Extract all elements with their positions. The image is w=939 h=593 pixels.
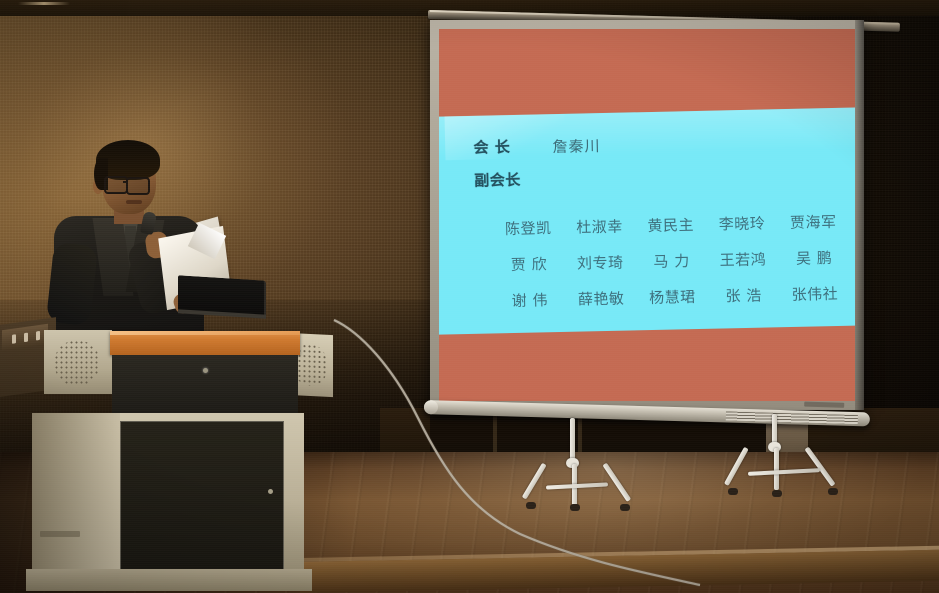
- vice-chairman-row-3: 谢 伟 薛艳敏 杨慧珺 张 浩 张伟社: [497, 283, 848, 312]
- tripod-foot: [570, 504, 580, 511]
- tripod-leg: [774, 448, 779, 490]
- name-cell: 张 浩: [710, 284, 776, 306]
- control-switch[interactable]: [12, 334, 16, 344]
- podium-brand-mark: [40, 531, 80, 537]
- name-cell: 王若鸿: [710, 248, 776, 270]
- name-cell: 马 力: [638, 250, 704, 272]
- podium-screw-icon: [203, 368, 208, 373]
- screen-tripod-right: [728, 414, 858, 494]
- name-cell: 张伟社: [782, 283, 848, 305]
- tripod-leg: [804, 447, 835, 487]
- name-cell: 陈登凯: [495, 217, 561, 239]
- vice-chairman-row-1: 陈登凯 杜淑幸 黄民主 李晓玲 贾海军: [495, 211, 846, 240]
- screen-tripod-left: [528, 418, 648, 498]
- tripod-leg: [724, 447, 749, 486]
- name-cell: 刘专琦: [567, 251, 633, 273]
- tripod-center-post: [570, 418, 575, 462]
- vice-chairman-label: 副会长: [474, 169, 521, 191]
- podium-screw-icon: [268, 489, 273, 494]
- name-cell: 贾 欣: [496, 253, 562, 275]
- control-switch[interactable]: [36, 331, 40, 341]
- slide-background: 会 长 詹秦川 副会长 陈登凯 杜淑幸 黄民主 李晓玲 贾海军 贾 欣: [439, 29, 855, 401]
- tripod-foot: [526, 502, 536, 509]
- podium-front-panel: [120, 421, 284, 571]
- tripod-brace: [546, 482, 608, 489]
- projection-screen-surface: 会 长 詹秦川 副会长 陈登凯 杜淑幸 黄民主 李晓玲 贾海军 贾 欣: [439, 29, 855, 401]
- control-switch[interactable]: [24, 333, 28, 343]
- podium-left-shelf: [44, 330, 112, 394]
- name-cell: 吴 鹏: [781, 247, 847, 269]
- name-cell: 杜淑幸: [566, 215, 632, 237]
- slide-text-layer: 会 长 詹秦川 副会长 陈登凯 杜淑幸 黄民主 李晓玲 贾海军 贾 欣: [439, 29, 855, 401]
- speaker-mouth: [126, 200, 142, 204]
- podium-upper-face: [112, 355, 298, 413]
- tripod-foot: [828, 488, 838, 495]
- presentation-photo: 会 长 詹秦川 副会长 陈登凯 杜淑幸 黄民主 李晓玲 贾海军 贾 欣: [0, 0, 939, 593]
- projection-screen-frame: 会 长 詹秦川 副会长 陈登凯 杜淑幸 黄民主 李晓玲 贾海军 贾 欣: [430, 20, 864, 410]
- podium-base-plinth: [26, 569, 312, 591]
- lectern-podium: [0, 313, 330, 593]
- chairman-name: 詹秦川: [552, 135, 600, 157]
- name-cell: 谢 伟: [497, 289, 563, 311]
- name-cell: 杨慧珺: [639, 286, 705, 308]
- tripod-foot: [620, 504, 630, 511]
- speaker-grille-icon: [54, 340, 100, 386]
- name-cell: 贾海军: [780, 211, 846, 233]
- name-cell: 薛艳敏: [568, 287, 634, 309]
- ceiling-highlight: [18, 2, 70, 5]
- podium-rail-highlight: [110, 331, 300, 335]
- glasses-lens-right: [126, 177, 150, 195]
- glasses-bridge: [123, 181, 128, 183]
- name-cell: 黄民主: [638, 214, 704, 236]
- laptop-on-podium[interactable]: [178, 278, 264, 318]
- chairman-label: 会 长: [473, 136, 510, 158]
- screen-frame-shadow: [855, 20, 864, 410]
- projection-screen-assembly: 会 长 詹秦川 副会长 陈登凯 杜淑幸 黄民主 李晓玲 贾海军 贾 欣: [424, 6, 904, 426]
- vice-chairman-row-2: 贾 欣 刘专琦 马 力 王若鸿 吴 鹏: [496, 247, 847, 276]
- name-cell: 李晓玲: [709, 212, 775, 234]
- tripod-foot: [772, 490, 782, 497]
- glasses-lens-left: [104, 176, 128, 194]
- tripod-foot: [728, 488, 738, 495]
- podium-body-left-face: [32, 413, 120, 573]
- screen-bar-end-cap: [424, 400, 438, 414]
- tripod-brace: [748, 468, 820, 476]
